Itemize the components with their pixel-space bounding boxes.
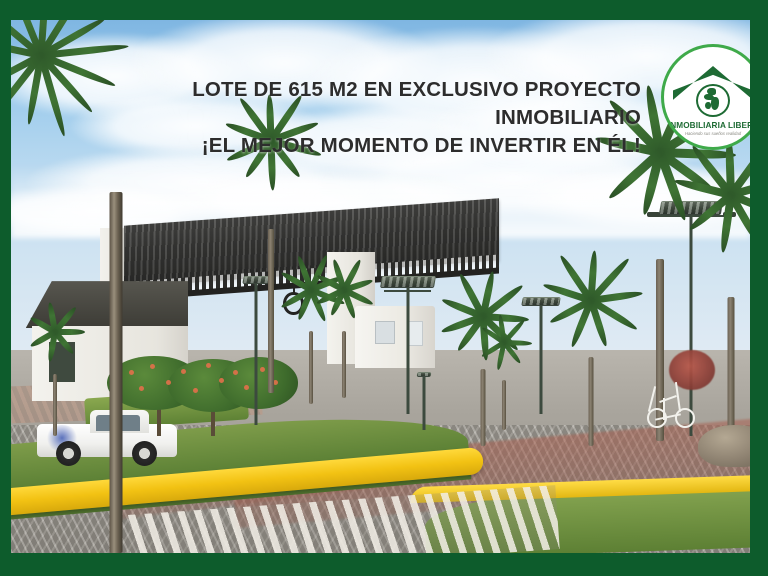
sculpture-bar [659, 395, 677, 403]
lamp-arm [397, 290, 431, 292]
tree-flower [206, 363, 211, 368]
globe-landmass [705, 102, 711, 109]
globe-americas-icon [696, 84, 729, 117]
logo-tagline: Haciendo sus sueños realidad [670, 131, 750, 136]
headline-text: LOTE DE 615 M2 EN EXCLUSIVO PROYECTO INM… [71, 76, 641, 160]
palm-tree [477, 340, 531, 431]
lamp-pole [406, 276, 409, 415]
palm-trunk [342, 331, 346, 398]
palm-trunk [268, 229, 274, 393]
lamp-pole [423, 372, 426, 431]
headline-line-1: LOTE DE 615 M2 EN EXCLUSIVO PROYECTO INM… [192, 78, 641, 129]
company-logo[interactable]: INMOBILIARIA LIBERTAD Haciendo sus sueño… [661, 44, 750, 150]
bicycle-sculpture [647, 372, 699, 430]
palm-trunk [502, 380, 506, 431]
palm-tree [314, 287, 374, 399]
solar-panel-icon [417, 372, 432, 377]
tree-flower [219, 378, 224, 383]
boulder [698, 425, 750, 467]
solar-street-lamp [417, 372, 431, 431]
solar-panel-icon [379, 276, 435, 288]
palm-trunk [109, 192, 122, 553]
palm-tree [26, 329, 84, 436]
advertisement-frame: LOTE DE 615 M2 EN EXCLUSIVO PROYECTO INM… [0, 0, 768, 576]
palm-trunk [309, 331, 313, 404]
palm-trunk [589, 357, 594, 447]
palm-trunk [53, 374, 57, 436]
headline-line-2: ¡EL MEJOR MOMENTO DE INVERTIR EN ÉL! [71, 132, 641, 160]
logo-company-name: INMOBILIARIA LIBERTAD [668, 121, 750, 130]
property-photo: LOTE DE 615 M2 EN EXCLUSIVO PROYECTO INM… [11, 20, 750, 553]
globe-landmass [711, 97, 719, 110]
logo-circle: INMOBILIARIA LIBERTAD Haciendo sus sueño… [661, 44, 750, 150]
lamp-pole [539, 297, 542, 414]
sculpture-wheel [675, 408, 695, 428]
